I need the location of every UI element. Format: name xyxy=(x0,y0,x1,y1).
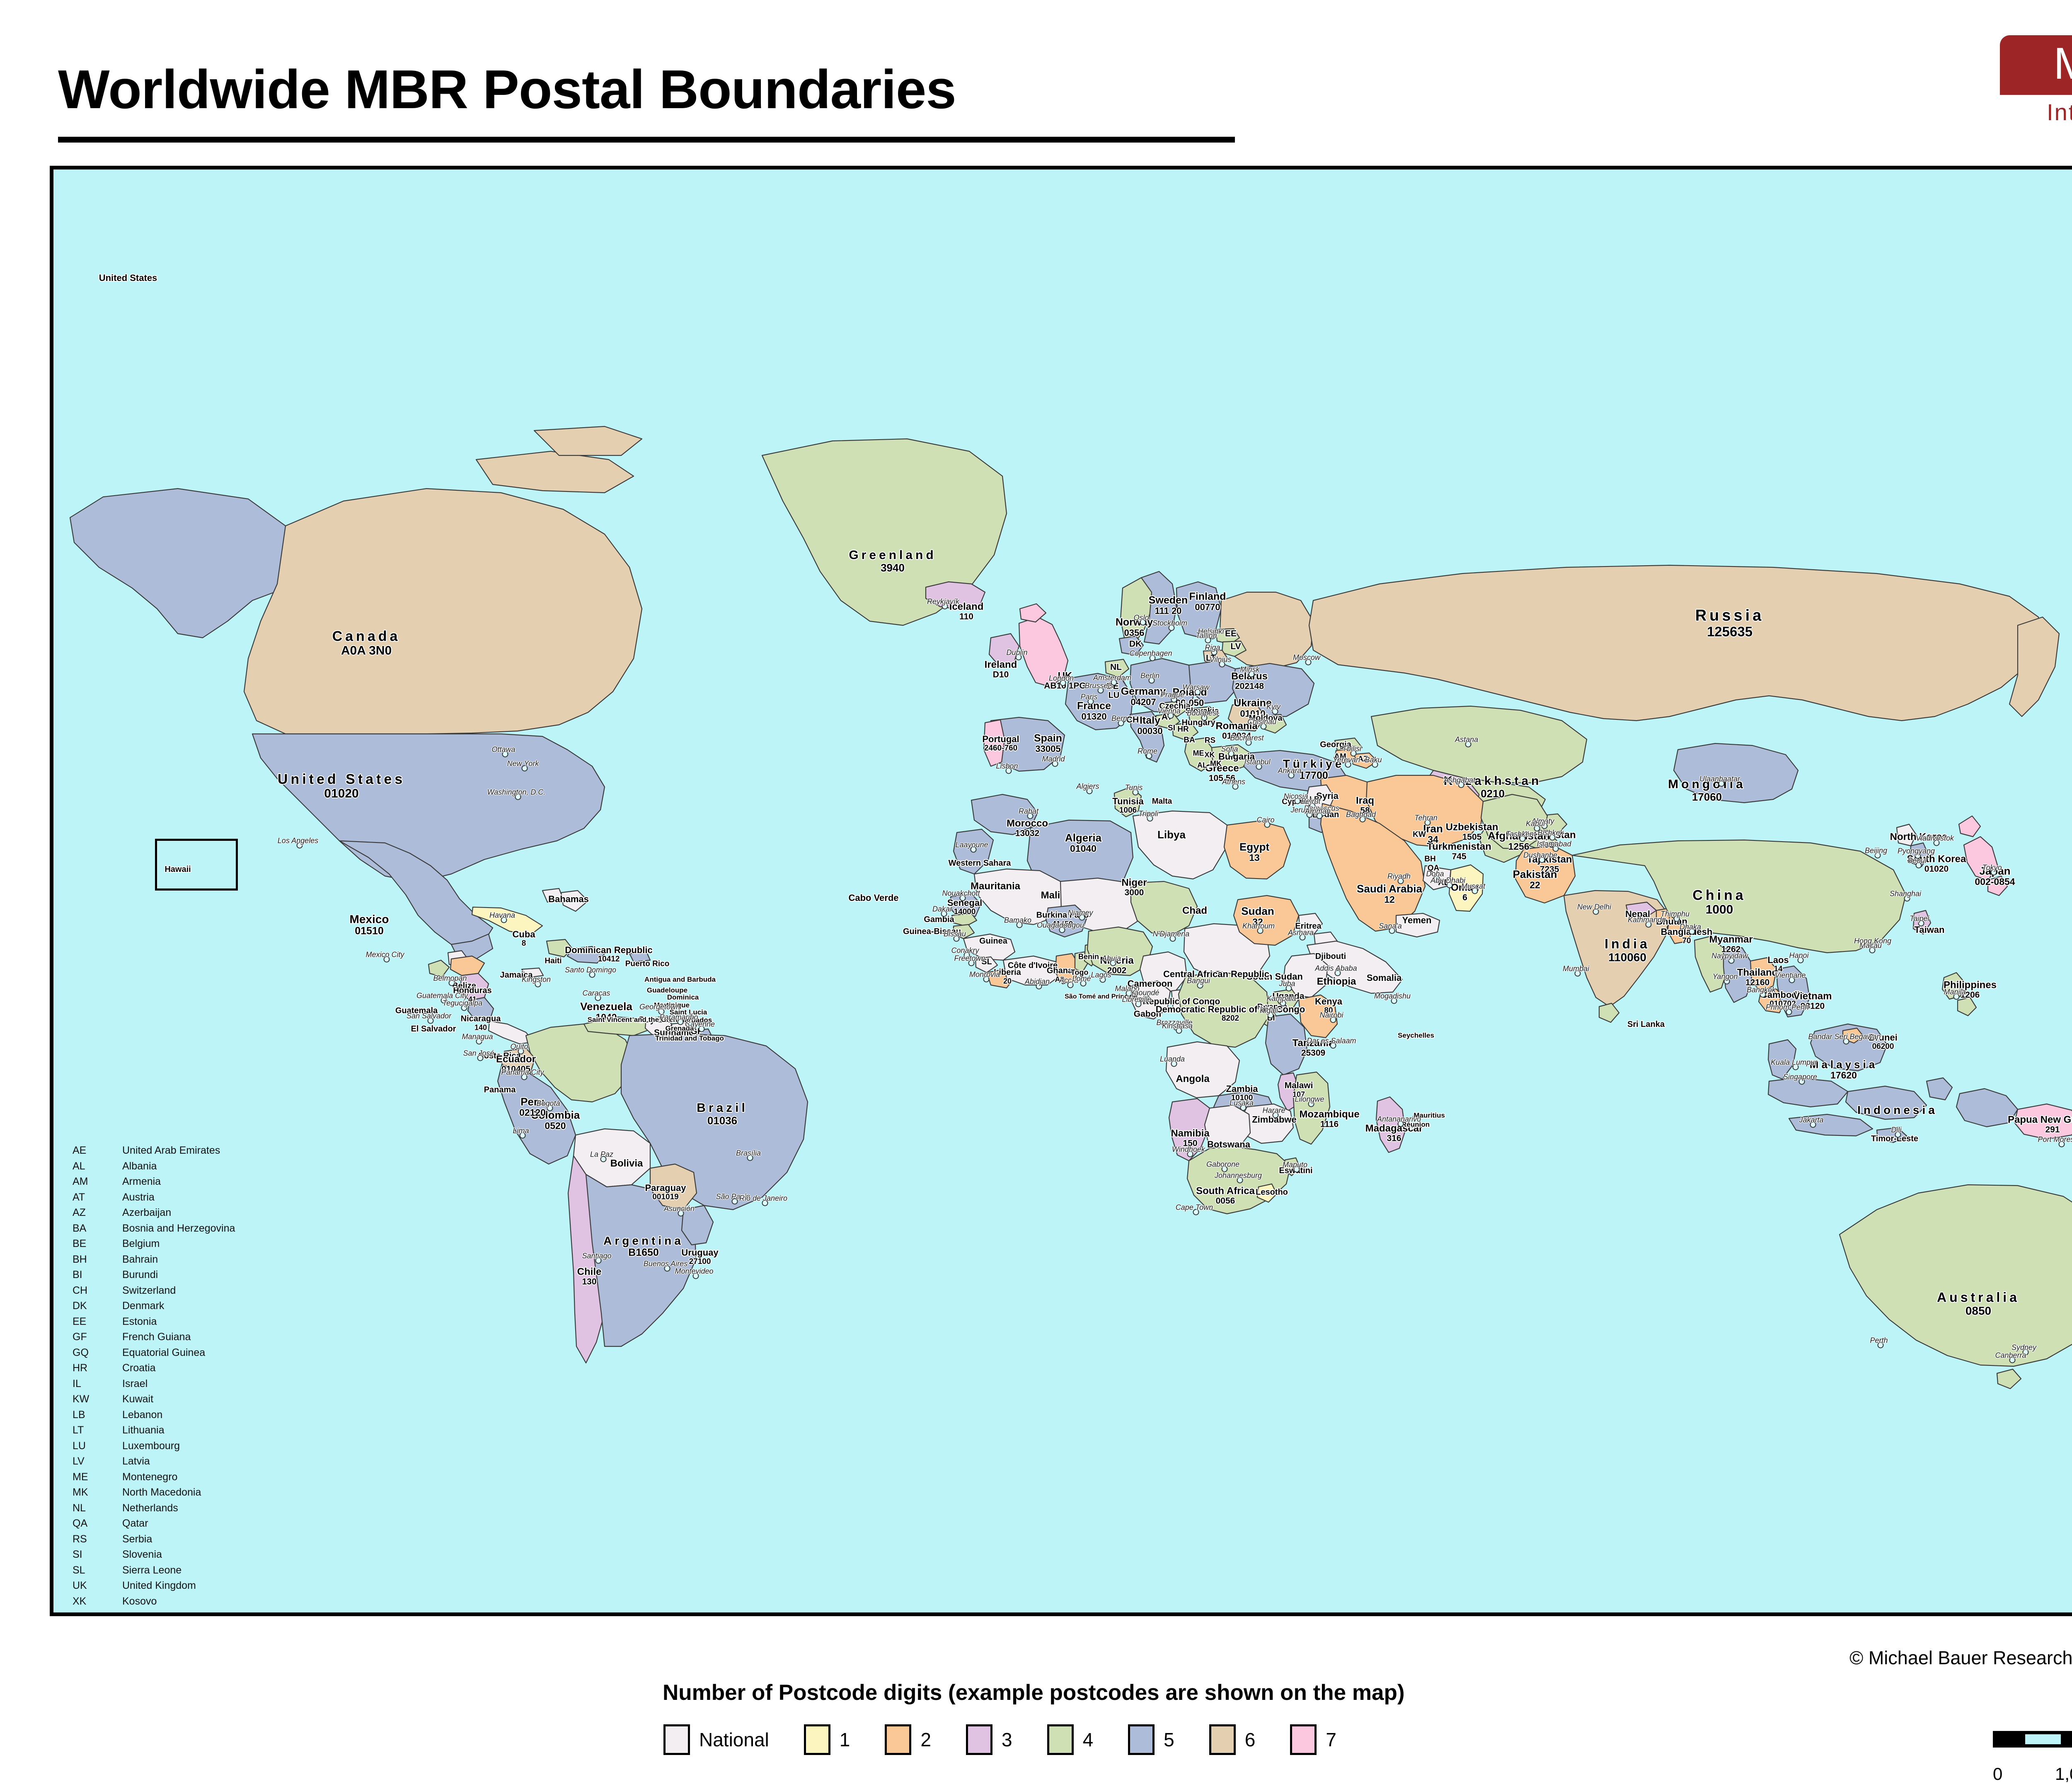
abbreviation-code: HR xyxy=(73,1360,122,1376)
city-marker-dot xyxy=(1719,781,1725,787)
city-marker-dot xyxy=(1036,983,1042,990)
abbreviation-row: SLSierra Leone xyxy=(73,1563,235,1578)
abbreviation-name: United Kingdom xyxy=(122,1578,196,1594)
legend-label: 4 xyxy=(1083,1728,1094,1751)
city-marker-dot xyxy=(1087,788,1093,794)
abbreviation-row: SISlovenia xyxy=(73,1547,235,1563)
city-marker-dot xyxy=(1389,928,1395,934)
abbreviation-row: LULuxembourg xyxy=(73,1438,235,1454)
city-marker-dot xyxy=(1273,1112,1279,1118)
legend-item[interactable]: 4 xyxy=(1047,1724,1094,1755)
city-marker-dot xyxy=(2059,1141,2065,1147)
abbreviation-row: UKUnited Kingdom xyxy=(73,1578,235,1594)
abbreviation-code: GQ xyxy=(73,1345,122,1361)
city-marker-dot xyxy=(1934,840,1940,846)
city-marker-dot xyxy=(1118,720,1124,726)
city-marker-dot xyxy=(1211,649,1218,656)
abbreviation-row: BEBelgium xyxy=(73,1236,235,1252)
city-marker-dot xyxy=(1193,1209,1199,1215)
abbreviation-name: Equatorial Guinea xyxy=(122,1345,205,1361)
city-marker-dot xyxy=(664,1266,670,1272)
abbreviation-code: AE xyxy=(73,1143,122,1159)
city-marker-dot xyxy=(1307,812,1313,818)
abbreviation-code: BI xyxy=(73,1267,122,1283)
city-marker-dot xyxy=(1953,994,1960,1000)
city-marker-dot xyxy=(1272,709,1278,715)
abbreviation-row: MKNorth Macedonia xyxy=(73,1485,235,1501)
abbreviation-name: French Guiana xyxy=(122,1329,191,1345)
city-marker-dot xyxy=(1317,813,1323,819)
city-marker-dot xyxy=(1345,762,1351,768)
city-marker-dot xyxy=(1133,789,1139,796)
city-marker-dot xyxy=(1257,928,1264,934)
city-marker-dot xyxy=(1458,782,1464,788)
city-marker-dot xyxy=(942,603,948,610)
abbreviation-name: Lebanon xyxy=(122,1407,162,1423)
city-marker-dot xyxy=(1286,985,1292,992)
abbreviation-name: Montenegro xyxy=(122,1469,177,1485)
abbreviation-code: KW xyxy=(73,1392,122,1407)
abbreviation-row: GQEquatorial Guinea xyxy=(73,1345,235,1361)
scale-bar-group: Kilometers 01,0002,0003,0004,000 xyxy=(1993,1731,2072,1764)
abbreviation-name: Bahrain xyxy=(122,1252,158,1268)
legend-swatch xyxy=(1290,1724,1317,1755)
city-marker-dot xyxy=(1294,1167,1300,1173)
city-marker-dot xyxy=(1689,929,1695,935)
city-marker-dot xyxy=(747,1155,753,1161)
city-marker-dot xyxy=(1918,920,1924,927)
city-marker-dot xyxy=(1100,977,1106,983)
city-marker-dot xyxy=(1060,680,1066,686)
abbreviation-row: AMArmenia xyxy=(73,1174,235,1190)
city-marker-dot xyxy=(521,1074,528,1080)
abbreviation-row: XKKosovo xyxy=(73,1594,235,1610)
city-marker-dot xyxy=(1080,980,1087,987)
abbreviation-name: Kuwait xyxy=(122,1392,153,1407)
city-marker-dot xyxy=(1575,971,1581,977)
city-marker-dot xyxy=(658,1009,665,1015)
city-marker-dot xyxy=(1674,916,1680,922)
abbreviation-name: Lithuania xyxy=(122,1423,164,1438)
city-marker-dot xyxy=(595,1258,602,1264)
abbreviation-code: AM xyxy=(73,1174,122,1190)
abbreviation-name: Armenia xyxy=(122,1174,161,1190)
city-marker-dot xyxy=(477,1055,484,1061)
abbreviation-row: ALAlbania xyxy=(73,1159,235,1174)
city-marker-dot xyxy=(1176,1028,1182,1034)
city-marker-dot xyxy=(1205,637,1211,644)
city-marker-dot xyxy=(1447,882,1453,888)
legend-swatch-row: National1234567 xyxy=(663,1724,1371,1755)
city-marker-dot xyxy=(441,997,447,1004)
city-marker-dot xyxy=(515,794,521,800)
abbreviation-row: BABosnia and Herzegovina xyxy=(73,1221,235,1237)
city-marker-dot xyxy=(1006,768,1012,774)
abbreviation-code: UK xyxy=(73,1578,122,1594)
city-marker-dot xyxy=(1391,998,1397,1004)
abbreviation-code: RS xyxy=(73,1532,122,1547)
scale-bar xyxy=(1993,1731,2072,1748)
abbreviation-name: Albania xyxy=(122,1159,157,1174)
abbreviation-name: Netherlands xyxy=(122,1501,178,1516)
city-marker-dot xyxy=(1171,1061,1177,1067)
city-marker-dot xyxy=(1465,741,1472,748)
city-marker-dot xyxy=(1728,958,1735,964)
abbreviation-name: Belgium xyxy=(122,1236,160,1252)
city-marker-dot xyxy=(1646,922,1652,928)
city-marker-dot xyxy=(1895,1132,1901,1138)
city-marker-dot xyxy=(1786,1009,1792,1015)
city-marker-dot xyxy=(678,1210,684,1217)
logo-primary-text: MB-Research xyxy=(2000,35,2072,95)
legend-swatch xyxy=(663,1724,690,1755)
abbreviation-code: EE xyxy=(73,1314,122,1330)
city-marker-dot xyxy=(1111,680,1117,686)
abbreviation-code: BH xyxy=(73,1252,122,1268)
city-marker-dot xyxy=(1240,1105,1247,1111)
abbreviation-row: NLNetherlands xyxy=(73,1501,235,1516)
city-marker-dot xyxy=(384,956,390,963)
city-marker-dot xyxy=(1222,1166,1228,1172)
abbreviation-name: Bosnia and Herzegovina xyxy=(122,1221,235,1237)
abbreviation-row: GFFrench Guiana xyxy=(73,1329,235,1345)
abbreviation-row: LVLatvia xyxy=(73,1454,235,1469)
city-marker-dot xyxy=(535,981,541,988)
abbreviation-code: DK xyxy=(73,1298,122,1314)
city-marker-dot xyxy=(1149,678,1155,684)
legend-item[interactable]: 1 xyxy=(804,1724,850,1755)
city-marker-dot xyxy=(1724,978,1730,985)
abbreviation-code: QA xyxy=(73,1516,122,1532)
city-marker-dot xyxy=(518,1048,524,1055)
city-marker-dot xyxy=(1915,853,1921,859)
city-marker-dot xyxy=(1330,1017,1336,1023)
city-marker-dot xyxy=(1280,1000,1286,1007)
city-marker-dot xyxy=(1549,835,1556,841)
city-marker-dot xyxy=(1146,753,1152,759)
legend-label: 1 xyxy=(840,1728,850,1751)
legend-label: 6 xyxy=(1245,1728,1256,1751)
abbreviation-code: SL xyxy=(73,1563,122,1578)
city-marker-dot xyxy=(1360,816,1366,823)
city-marker-dot xyxy=(1219,661,1225,668)
city-marker-dot xyxy=(983,976,990,983)
legend-swatch xyxy=(966,1724,992,1755)
city-marker-dot xyxy=(1187,1151,1193,1157)
city-marker-dot xyxy=(1539,857,1545,863)
city-marker-dot xyxy=(1793,1064,1799,1070)
abbreviation-code: ME xyxy=(73,1469,122,1485)
scale-tick: 1,000 xyxy=(2055,1764,2072,1784)
abbreviation-row: AZAzerbaijan xyxy=(73,1205,235,1221)
city-marker-dot xyxy=(1246,740,1252,746)
city-marker-dot xyxy=(1789,977,1795,983)
legend-label: 7 xyxy=(1326,1728,1336,1751)
abbreviation-name: Denmark xyxy=(122,1298,164,1314)
city-marker-dot xyxy=(1059,927,1065,933)
city-marker-dot xyxy=(1843,1038,1849,1045)
city-marker-dot xyxy=(699,1026,705,1032)
city-marker-dot xyxy=(971,847,977,853)
abbreviation-name: Latvia xyxy=(122,1454,150,1469)
city-marker-dot xyxy=(1170,936,1176,942)
city-marker-dot xyxy=(678,1019,684,1025)
city-marker-dot xyxy=(1300,934,1306,941)
city-marker-dot xyxy=(1295,798,1301,804)
city-marker-dot xyxy=(1878,1342,1884,1348)
city-marker-dot xyxy=(1553,846,1559,852)
abbreviation-name: Israel xyxy=(122,1376,148,1392)
legend-label: 5 xyxy=(1164,1728,1174,1751)
legend-item[interactable]: 7 xyxy=(1290,1724,1336,1755)
city-marker-dot xyxy=(1150,655,1156,661)
abbreviation-code: AL xyxy=(73,1159,122,1174)
abbreviation-row: MEMontenegro xyxy=(73,1469,235,1485)
city-marker-dot xyxy=(954,936,960,942)
legend-swatch xyxy=(1209,1724,1236,1755)
city-marker-dot xyxy=(1434,876,1440,882)
city-marker-dot xyxy=(1268,1012,1274,1019)
city-marker-dot xyxy=(2023,1349,2029,1356)
city-marker-dot xyxy=(2009,1357,2016,1363)
page-title: Worldwide MBR Postal Boundaries xyxy=(58,58,956,121)
city-marker-dot xyxy=(1916,862,1922,869)
city-marker-dot xyxy=(1798,957,1804,963)
city-marker-dot xyxy=(1098,687,1104,694)
city-marker-dot xyxy=(1228,751,1234,757)
abbreviation-name: Slovenia xyxy=(122,1547,162,1563)
city-marker-dot xyxy=(1351,750,1357,757)
world-map-svg xyxy=(53,169,2072,1612)
abbreviation-row: RSSerbia xyxy=(73,1532,235,1547)
abbreviation-name: Azerbaijan xyxy=(122,1205,171,1221)
city-marker-dot xyxy=(501,917,507,923)
abbreviation-name: Austria xyxy=(122,1190,155,1205)
abbreviation-row: CHSwitzerland xyxy=(73,1283,235,1299)
abbreviation-name: North Macedonia xyxy=(122,1485,201,1501)
city-marker-dot xyxy=(1542,823,1548,829)
city-marker-dot xyxy=(1135,1001,1142,1007)
city-marker-dot xyxy=(589,972,595,978)
city-marker-dot xyxy=(1335,970,1341,976)
abbreviation-name: United Arab Emirates xyxy=(122,1143,220,1159)
city-marker-dot xyxy=(1593,909,1599,915)
city-marker-dot xyxy=(1305,659,1312,666)
city-marker-dot xyxy=(1195,689,1201,695)
city-marker-dot xyxy=(1425,820,1431,826)
abbreviation-row: KWKuwait xyxy=(73,1392,235,1407)
legend-item[interactable]: 5 xyxy=(1128,1724,1174,1755)
abbreviation-name: Sierra Leone xyxy=(122,1563,182,1578)
legend-label: 2 xyxy=(920,1728,931,1751)
abbreviation-code: GF xyxy=(73,1329,122,1345)
city-marker-dot xyxy=(1869,947,1876,954)
city-marker-dot xyxy=(1067,982,1074,988)
city-marker-dot xyxy=(547,1105,553,1111)
abbreviation-name: Luxembourg xyxy=(122,1438,180,1454)
city-marker-dot xyxy=(1016,654,1022,661)
copyright-notice: © Michael Bauer Research GmbH, Nuremberg… xyxy=(1849,1647,2072,1669)
city-marker-dot xyxy=(595,995,601,1001)
city-marker-dot xyxy=(449,980,455,986)
abbreviation-code: AZ xyxy=(73,1205,122,1221)
city-marker-dot xyxy=(1799,1079,1805,1085)
city-marker-dot xyxy=(1017,922,1023,928)
abbreviation-row: ILIsrael xyxy=(73,1376,235,1392)
city-marker-dot xyxy=(476,1038,482,1045)
abbreviation-name: Qatar xyxy=(122,1516,148,1532)
mb-research-logo: MB-Research International Market Data xyxy=(2000,35,2072,132)
abbreviation-code: SI xyxy=(73,1547,122,1563)
city-marker-dot xyxy=(1288,772,1295,779)
abbreviation-code: BA xyxy=(73,1221,122,1237)
abbreviation-code: AT xyxy=(73,1190,122,1205)
map-canvas[interactable] xyxy=(53,169,2072,1612)
legend-item[interactable]: 3 xyxy=(966,1724,1012,1755)
city-marker-dot xyxy=(1372,762,1378,768)
city-marker-dot xyxy=(1310,803,1316,809)
legend-title: Number of Postcode digits (example postc… xyxy=(663,1680,1405,1705)
city-marker-dot xyxy=(502,751,508,758)
legend-item[interactable]: 2 xyxy=(885,1724,931,1755)
abbreviation-name: Burundi xyxy=(122,1267,158,1283)
city-marker-dot xyxy=(941,911,947,917)
abbreviation-name: Kosovo xyxy=(122,1594,157,1610)
city-marker-dot xyxy=(1904,896,1910,902)
abbreviation-name: Serbia xyxy=(122,1532,152,1547)
city-marker-dot xyxy=(1143,995,1150,1001)
city-marker-dot xyxy=(1991,869,1997,876)
city-marker-dot xyxy=(520,1133,526,1139)
abbreviation-name: Switzerland xyxy=(122,1283,176,1299)
city-marker-dot xyxy=(297,842,303,849)
abbreviation-row: EEEstonia xyxy=(73,1314,235,1330)
city-marker-dot xyxy=(1126,990,1132,997)
city-marker-dot xyxy=(1147,816,1153,822)
city-marker-dot xyxy=(1520,836,1526,842)
abbreviation-row: BHBahrain xyxy=(73,1252,235,1268)
abbreviation-row: BIBurundi xyxy=(73,1267,235,1283)
city-marker-dot xyxy=(1232,784,1239,790)
legend-swatch xyxy=(1047,1724,1074,1755)
city-marker-dot xyxy=(1398,1121,1404,1127)
city-marker-dot xyxy=(461,1005,467,1011)
logo-tagline: International Market Data xyxy=(2000,95,2072,132)
abbreviation-row: DKDenmark xyxy=(73,1298,235,1314)
abbreviation-row: HRCroatia xyxy=(73,1360,235,1376)
abbreviation-code: LU xyxy=(73,1438,122,1454)
abbreviation-name: Estonia xyxy=(122,1314,157,1330)
map-frame[interactable]: Hawaii United StatesCanadaA0A 3N0United … xyxy=(50,166,2072,1616)
city-marker-dot xyxy=(693,1273,699,1279)
abbreviation-table: AEUnited Arab EmiratesALAlbaniaAMArmenia… xyxy=(73,1143,235,1609)
city-marker-dot xyxy=(1169,625,1175,631)
city-marker-dot xyxy=(1079,915,1085,921)
abbreviation-row: QAQatar xyxy=(73,1516,235,1532)
abbreviation-code: MK xyxy=(73,1485,122,1501)
abbreviation-code: LT xyxy=(73,1423,122,1438)
abbreviation-row: ATAustria xyxy=(73,1190,235,1205)
legend-swatch xyxy=(804,1724,830,1755)
legend-item[interactable]: National xyxy=(663,1724,769,1755)
city-marker-dot xyxy=(1249,671,1255,678)
city-marker-dot xyxy=(1308,1101,1314,1107)
city-marker-dot xyxy=(968,960,975,966)
city-marker-dot xyxy=(428,1018,434,1024)
city-marker-dot xyxy=(1261,724,1267,730)
legend-item[interactable]: 6 xyxy=(1209,1724,1256,1755)
abbreviation-code: BE xyxy=(73,1236,122,1252)
abbreviation-row: LBLebanon xyxy=(73,1407,235,1423)
abbreviation-code: XK xyxy=(73,1594,122,1610)
city-marker-dot xyxy=(600,1156,607,1162)
city-marker-dot xyxy=(964,952,970,959)
abbreviation-code: LV xyxy=(73,1454,122,1469)
city-marker-dot xyxy=(762,1200,768,1206)
abbreviation-code: CH xyxy=(73,1283,122,1299)
city-marker-dot xyxy=(960,895,966,901)
legend-label: National xyxy=(699,1728,769,1751)
city-marker-dot xyxy=(1256,764,1262,770)
city-marker-dot xyxy=(1264,822,1271,828)
city-marker-dot xyxy=(1472,888,1478,894)
city-marker-dot xyxy=(1140,620,1146,626)
abbreviation-name: Croatia xyxy=(122,1360,156,1376)
city-marker-dot xyxy=(1171,697,1177,703)
city-marker-dot xyxy=(1088,699,1094,705)
city-marker-dot xyxy=(1110,960,1116,966)
abbreviation-row: LTLithuania xyxy=(73,1423,235,1438)
city-marker-dot xyxy=(1875,852,1881,859)
city-marker-dot xyxy=(1237,1177,1243,1184)
abbreviation-code: NL xyxy=(73,1501,122,1516)
city-marker-dot xyxy=(1201,715,1208,721)
city-marker-dot xyxy=(1168,713,1174,719)
abbreviation-code: IL xyxy=(73,1376,122,1392)
city-marker-dot xyxy=(1027,813,1034,819)
city-marker-dot xyxy=(1052,761,1058,767)
city-marker-dot xyxy=(1197,983,1203,989)
hawaii-inset-box xyxy=(155,839,238,891)
abbreviation-code: LB xyxy=(73,1407,122,1423)
scale-tick: 0 xyxy=(1993,1764,2002,1784)
title-underline xyxy=(58,137,1235,143)
abbreviation-row: AEUnited Arab Emirates xyxy=(73,1143,235,1159)
city-marker-dot xyxy=(1330,1043,1336,1049)
city-marker-dot xyxy=(1398,878,1404,884)
legend-swatch xyxy=(885,1724,911,1755)
city-marker-dot xyxy=(1760,992,1766,998)
legend-swatch xyxy=(1128,1724,1155,1755)
city-marker-dot xyxy=(1534,825,1540,832)
city-marker-dot xyxy=(732,1198,738,1205)
city-marker-dot xyxy=(522,765,528,772)
legend-label: 3 xyxy=(1002,1728,1012,1751)
city-marker-dot xyxy=(1810,1122,1816,1128)
